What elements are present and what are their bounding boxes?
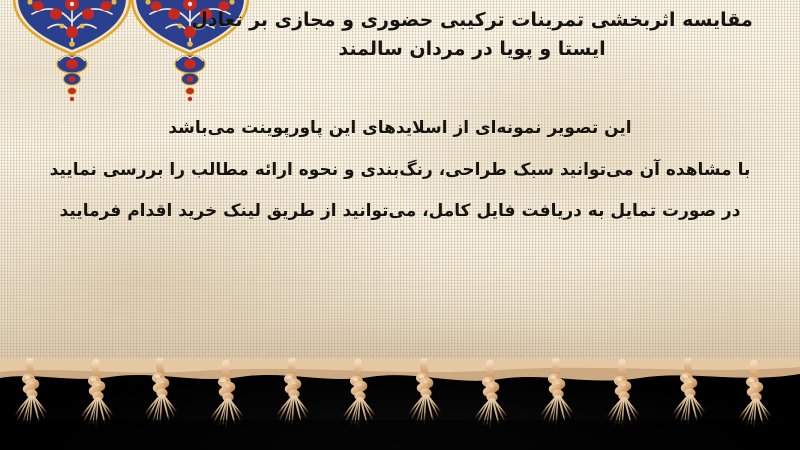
body-line-1: این تصویر نمونه‌ای از اسلایدهای این پاور… xyxy=(28,108,772,150)
slide-title: مقایسه اثربخشی تمرینات ترکیبی حضوری و مج… xyxy=(162,6,782,65)
slide-title-line-1: مقایسه اثربخشی تمرینات ترکیبی حضوری و مج… xyxy=(162,6,782,35)
slide-canvas: مقایسه اثربخشی تمرینات ترکیبی حضوری و مج… xyxy=(0,0,800,450)
body-line-3: در صورت تمایل به دریافت فایل کامل، می‌تو… xyxy=(28,191,772,233)
slide-body-text: این تصویر نمونه‌ای از اسلایدهای این پاور… xyxy=(28,108,772,233)
carpet-knotted-fringe xyxy=(0,358,800,450)
body-line-2: با مشاهده آن می‌توانید سبک طراحی، رنگ‌بن… xyxy=(28,150,772,192)
slide-title-line-2: ایستا و پویا در مردان سالمند xyxy=(162,35,782,64)
